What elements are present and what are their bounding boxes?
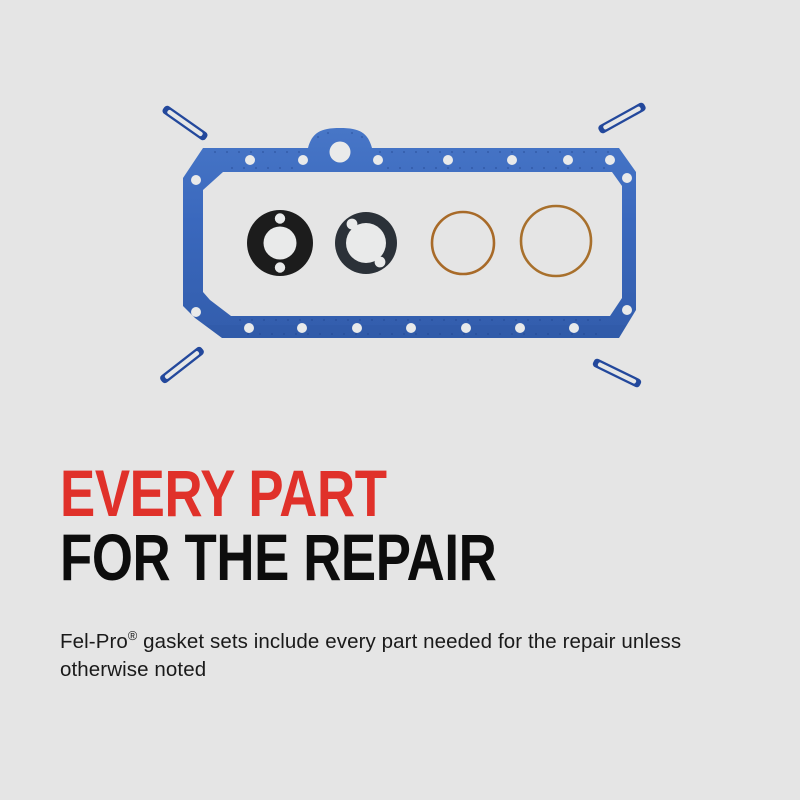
description-remainder: gasket sets include every part needed fo… [60,630,681,681]
promo-card: EVERY PART FOR THE REPAIR Fel-Pro® gaske… [0,0,800,800]
gasket-center-hole [330,142,351,163]
black-gasket-washer-thick [247,210,313,276]
gasket-set-illustration [0,0,800,440]
text-block: EVERY PART FOR THE REPAIR Fel-Pro® gaske… [60,462,760,685]
headline-line-1: EVERY PART [60,462,620,524]
product-image [0,0,800,440]
headline-line-2: FOR THE REPAIR [60,526,620,588]
black-gasket-washer-thin [335,212,397,274]
brand-name: Fel-Pro [60,630,128,653]
registered-trademark-symbol: ® [128,628,137,643]
description-text: Fel-Pro® gasket sets include every part … [60,588,685,685]
oil-pan-gasket-frame [160,110,660,360]
